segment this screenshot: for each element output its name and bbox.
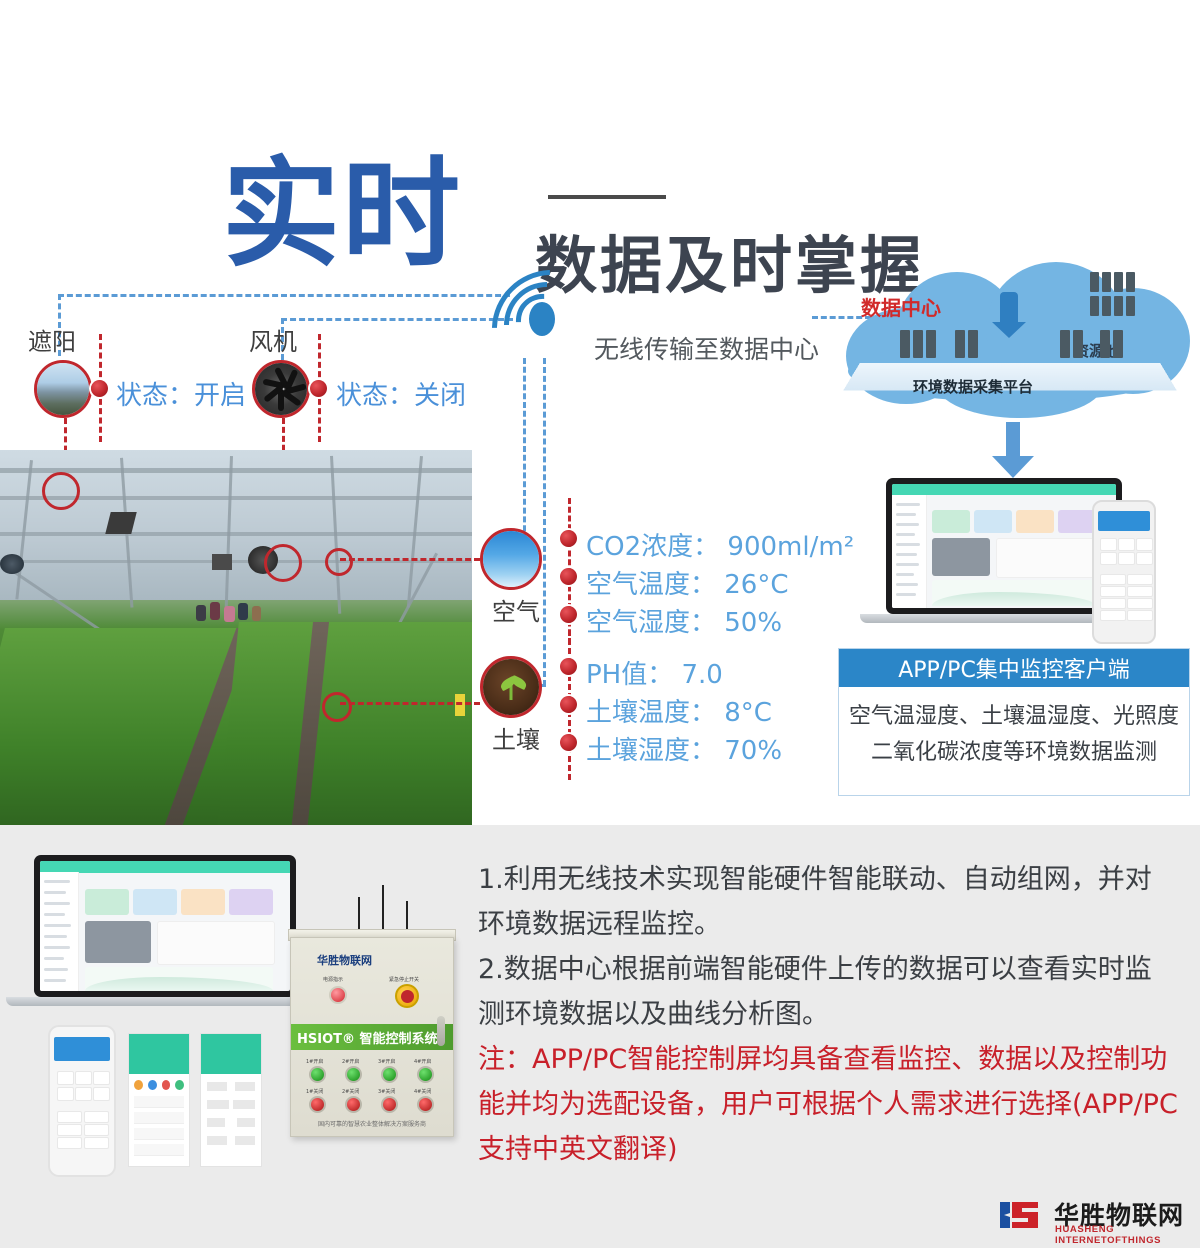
link-line-sunshade [58,294,510,297]
server-rack [1073,330,1083,358]
emergency-stop-button[interactable] [395,984,419,1008]
bottom-note: 注：APP/PC智能控制屏均具备查看监控、数据以及控制功能并均为选配设备，用户可… [478,1037,1178,1172]
photo-link-air [340,558,480,561]
controller-box: 华胜物联网 电源指示 紧急停止开关 HSIOT® 智能控制系统 1#开启 2#开… [290,937,454,1137]
fan-icon [252,360,310,418]
red-lamp-3[interactable] [381,1096,398,1113]
cloud-to-client-arrow-head-icon [992,456,1034,478]
link-line-fan [281,318,513,321]
controller-system-name: HSIOT® 智能控制系统 [297,1028,438,1047]
green-lamp-4[interactable] [417,1066,434,1083]
controller-model: HSIOT [297,1032,342,1047]
server-rack [900,330,910,358]
readout-air-humidity: 空气湿度： 50% [586,602,782,639]
resource-pool-rack [1126,272,1135,292]
brand-name-en: HUASHENG INTERNETOFTHINGS [1055,1224,1188,1246]
green-lamp-4-label: 4#开启 [414,1058,431,1065]
emergency-stop-label: 紧急停止开关 [389,976,419,983]
laptop-screen [886,478,1122,614]
controller-brand: 华胜物联网 [317,952,372,968]
server-rack [955,330,965,358]
client-info-box: APP/PC集中监控客户端 空气温湿度、土壤温湿度、光照度 二氧化碳浓度等环境数… [838,648,1190,796]
bottom-paragraph-1: 1.利用无线技术实现智能硬件智能联动、自动组网，并对环境数据远程监控。 [478,857,1178,947]
infographic-page: 实时 数据及时掌握 无线传输至数据中心 遮阳 状态：开启 [0,0,1200,1248]
sensor-marker-sunshade-photo [42,472,80,510]
red-lamp-2-label: 2#关闭 [342,1088,359,1095]
power-indicator-lamp [329,986,347,1004]
readout-dot-air-humidity [560,606,577,623]
readout-soil-temperature: 土壤温度： 8°C [586,692,772,729]
red-lamp-1-label: 1#关闭 [306,1088,323,1095]
bottom-paragraph-2: 2.数据中心根据前端智能硬件上传的数据可以查看实时监测环境数据以及曲线分析图。 [478,947,1178,1037]
server-rack [1060,330,1070,358]
client-info-line-1: 空气温湿度、土壤温湿度、光照度 [839,699,1189,735]
client-info-body: 空气温湿度、土壤温湿度、光照度 二氧化碳浓度等环境数据监测 [839,687,1189,771]
readout-air-temperature: 空气温度： 26°C [586,564,789,601]
readout-dot-air-co2 [560,530,577,547]
server-rack [913,330,923,358]
green-lamp-3-label: 3#开启 [378,1058,395,1065]
controller-system-label: 智能控制系统 [360,1032,438,1047]
bottom-app-screen-3 [200,1033,262,1167]
device-label-fan: 风机 [249,322,297,357]
readout-dot-soil-temp [560,696,577,713]
status-dot-sunshade [91,380,108,397]
sensor-label-soil: 土壤 [492,720,540,755]
resource-pool-rack [1090,272,1099,292]
hs-logo-icon [998,1200,1044,1230]
readout-dot-air-temp [560,568,577,585]
cloud-to-client-arrow [1006,422,1020,460]
greenhouse-photo [0,450,472,825]
title-divider [548,195,666,199]
red-lamp-4[interactable] [417,1096,434,1113]
resource-pool-rack [1102,296,1111,316]
red-lamp-4-label: 4#关闭 [414,1088,431,1095]
bottom-phone-mockup [48,1025,116,1177]
sensor-marker-air-photo [325,548,353,576]
cloud-inner-arrow-head-icon [992,322,1026,338]
bottom-section: 华胜物联网 电源指示 紧急停止开关 HSIOT® 智能控制系统 1#开启 2#开… [0,825,1200,1248]
client-info-header: APP/PC集中监控客户端 [839,649,1189,687]
green-lamp-1-label: 1#开启 [306,1058,323,1065]
resource-pool-rack [1114,272,1123,292]
red-lamp-2[interactable] [345,1096,362,1113]
red-lamp-3-label: 3#关闭 [378,1088,395,1095]
device-label-sunshade: 遮阳 [28,322,76,357]
soil-icon [480,656,542,718]
status-fan: 状态：关闭 [336,375,466,412]
green-lamp-3[interactable] [381,1066,398,1083]
resource-pool-rack [1102,272,1111,292]
readout-soil-humidity: 土壤湿度： 70% [586,730,782,767]
link-line-air-riser [523,358,526,540]
data-platform-label: 环境数据采集平台 [913,376,1033,397]
status-dot-fan [310,380,327,397]
status-sunshade: 状态：开启 [116,375,246,412]
power-indicator-label: 电源指示 [323,976,343,983]
server-rack [926,330,936,358]
brand-logo: 华胜物联网 HUASHENG INTERNETOFTHINGS [998,1196,1188,1238]
readout-soil-ph: PH值： 7.0 [586,654,723,691]
wifi-arc-3 [469,247,625,403]
readout-air-co2: CO2浓度： 900ml/m² [586,526,854,563]
page-header: 实时 数据及时掌握 [0,75,1200,250]
sensor-marker-soil-photo [322,692,352,722]
diagram-area: 无线传输至数据中心 遮阳 状态：开启 风机 状态：关闭 [0,250,1200,825]
resource-pool-rack [1090,296,1099,316]
cloud-inner-arrow-icon [1000,292,1018,326]
controller-handle[interactable] [437,1016,445,1046]
sunshade-icon [34,360,92,418]
wifi-signal-icon [488,278,596,360]
red-lamp-1[interactable] [309,1096,326,1113]
wireless-transmission-label: 无线传输至数据中心 [594,330,819,366]
green-lamp-2[interactable] [345,1066,362,1083]
server-rack [968,330,978,358]
resource-pool-rack [1114,296,1123,316]
resource-pool-rack [1126,296,1135,316]
readout-dot-soil-ph [560,658,577,675]
green-lamp-2-label: 2#开启 [342,1058,359,1065]
sensor-marker-fan-photo [264,544,302,582]
photo-link-soil [340,702,480,705]
sensor-label-air: 空气 [492,592,540,627]
server-rack [1113,330,1123,358]
data-center-title: 数据中心 [861,292,941,321]
bottom-text-block: 1.利用无线技术实现智能硬件智能联动、自动组网，并对环境数据远程监控。 2.数据… [478,857,1178,1172]
laptop-mockup [886,478,1122,626]
server-rack [1100,330,1110,358]
green-lamp-1[interactable] [309,1066,326,1083]
controller-footer: 国内可靠的智慧农业整体解决方案服务商 [291,1119,453,1128]
link-line-soil-riser [543,358,546,686]
air-icon [480,528,542,590]
readout-dot-soil-humidity [560,734,577,751]
bottom-app-screen-2 [128,1033,190,1167]
client-info-line-2: 二氧化碳浓度等环境数据监测 [839,735,1189,771]
bottom-laptop-mockup [34,855,296,1007]
phone-mockup [1092,500,1156,644]
